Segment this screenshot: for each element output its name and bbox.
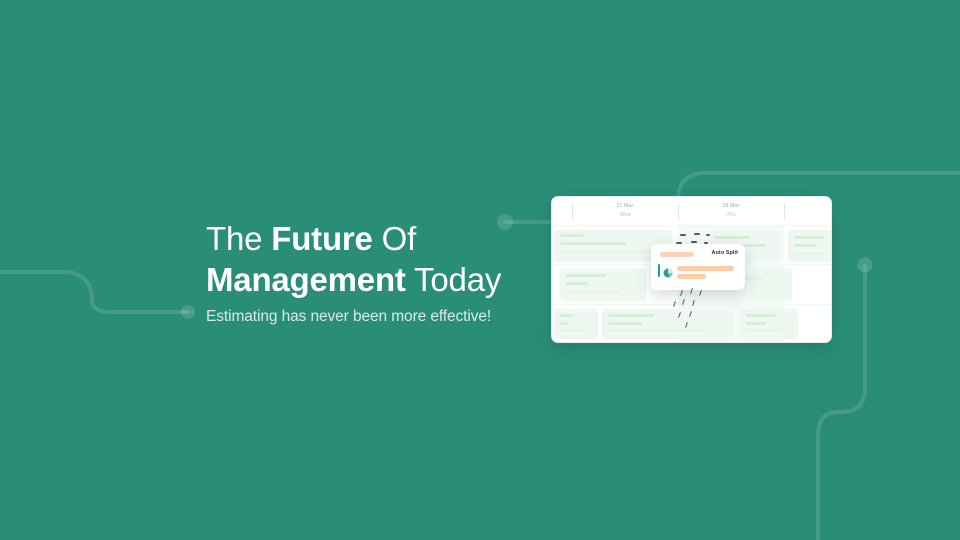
split-dash-mark (694, 233, 700, 235)
day-column-weekday: Wed (572, 211, 678, 220)
hero-line1-the: The (206, 220, 271, 257)
skeleton-bar (559, 314, 573, 317)
day-column-weekday: Thu (678, 211, 784, 220)
hero-line2-today: Today (406, 261, 501, 298)
left-connector-dot (181, 305, 195, 319)
popup-content-bar (677, 274, 706, 279)
skeleton-bar (794, 252, 824, 255)
hero-line1-of: Of (373, 220, 416, 257)
column-divider (784, 203, 785, 220)
slide-canvas: The Future Of Management Today Estimatin… (0, 0, 960, 540)
skeleton-bar (714, 236, 750, 239)
skeleton-bar (746, 329, 782, 332)
popup-accent-stripe (658, 264, 660, 277)
skeleton-bar (608, 322, 642, 325)
calendar-header-row: 27 Mar Wed 28 Mar Thu (552, 197, 831, 226)
skeleton-bar (608, 329, 704, 332)
hero-text-block: The Future Of Management Today Estimatin… (206, 218, 536, 327)
hero-headline-line-2: Management Today (206, 259, 536, 300)
popup-title-placeholder (660, 252, 694, 257)
skeleton-bar (794, 244, 816, 247)
day-column-header[interactable]: 28 Mar Thu (678, 202, 784, 220)
skeleton-bar (566, 290, 620, 293)
skeleton-bar (560, 242, 626, 245)
split-dash-mark (680, 234, 686, 236)
skeleton-bar (608, 314, 654, 317)
skeleton-bar (794, 236, 824, 239)
hero-subtitle: Estimating has never been more effective… (206, 307, 536, 327)
bottom-right-connector-dot (858, 258, 873, 273)
skeleton-bar (566, 274, 606, 277)
day-column-date: 27 Mar (572, 202, 678, 211)
skeleton-bar (559, 322, 568, 325)
day-column-header[interactable]: 27 Mar Wed (572, 202, 678, 220)
auto-split-popup[interactable]: Auto Split (651, 244, 745, 290)
hero-line2-management: Management (206, 261, 406, 298)
popup-content-bar (677, 266, 734, 271)
left-connector-line (0, 272, 188, 312)
skeleton-bar (746, 322, 766, 325)
pie-chart-icon (663, 265, 673, 275)
auto-split-label: Auto Split (712, 250, 738, 256)
task-tile[interactable] (750, 269, 792, 301)
day-column-date: 28 Mar (678, 202, 784, 211)
skeleton-bar (559, 329, 583, 332)
split-dash-mark (706, 234, 710, 236)
skeleton-bar (560, 234, 584, 237)
skeleton-bar (560, 250, 662, 253)
skeleton-bar (566, 282, 588, 285)
skeleton-bar (746, 314, 776, 317)
split-dash-mark (691, 241, 697, 243)
hero-line1-future: Future (271, 220, 372, 257)
hero-headline-line-1: The Future Of (206, 218, 536, 259)
